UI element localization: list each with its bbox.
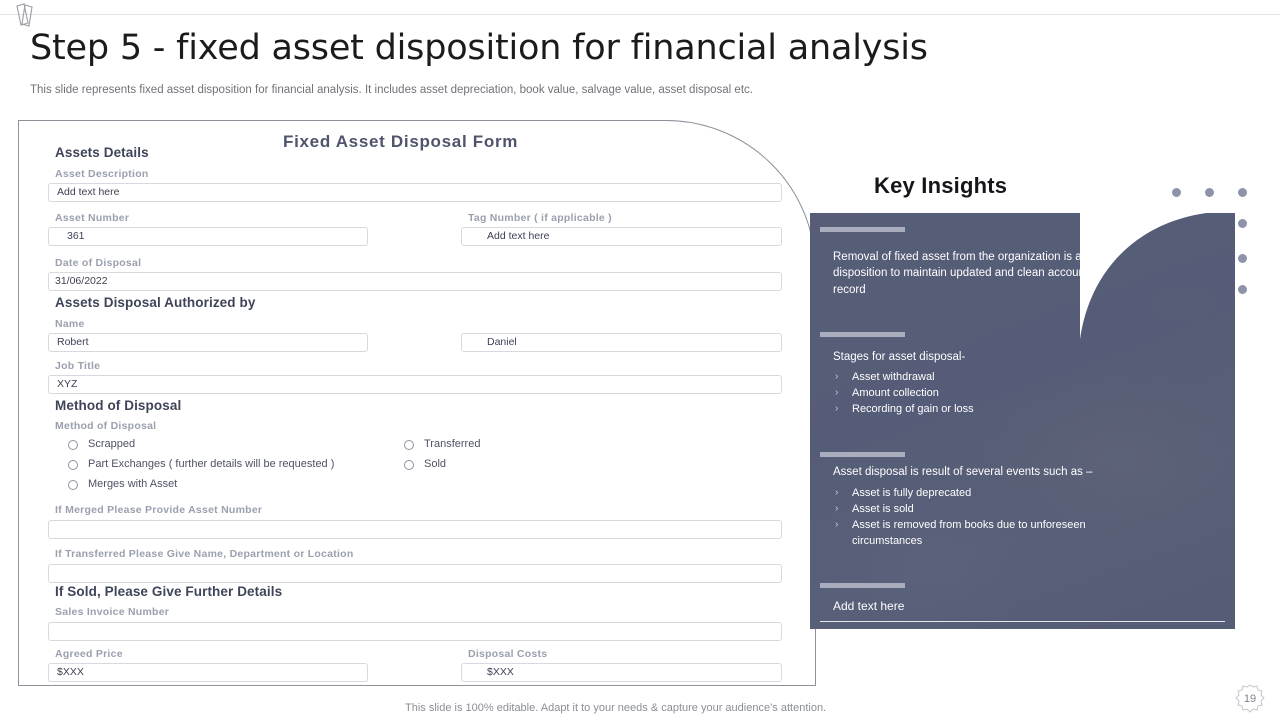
radio-label-part-exchanges[interactable]: Part Exchanges ( further details will be… (88, 458, 334, 470)
input-if-merged[interactable] (48, 520, 782, 539)
page-subtitle: This slide represents fixed asset dispos… (30, 83, 753, 98)
insight-item-3-1: Asset is sold (852, 501, 914, 517)
input-if-transferred[interactable] (48, 564, 782, 583)
insight-item-2-0: Asset withdrawal (852, 369, 935, 385)
chevron-right-icon: › (835, 387, 838, 398)
insight-text-1: Removal of fixed asset from the organiza… (833, 249, 1133, 298)
key-insights-title: Key Insights (874, 173, 1007, 199)
top-divider (0, 14, 1280, 15)
label-asset-number: Asset Number (55, 212, 129, 224)
value-date-of-disposal: 31/06/2022 (55, 272, 108, 291)
footer-note: This slide is 100% editable. Adapt it to… (405, 702, 826, 714)
input-agreed-price[interactable] (48, 663, 368, 682)
radio-scrapped[interactable] (68, 440, 78, 450)
input-asset-description[interactable] (48, 183, 782, 202)
label-asset-description: Asset Description (55, 168, 149, 180)
radio-transferred[interactable] (404, 440, 414, 450)
label-tag-number: Tag Number ( if applicable ) (468, 212, 612, 224)
input-sales-invoice-number[interactable] (48, 622, 782, 641)
label-method-of-disposal: Method of Disposal (55, 420, 156, 432)
form-title: Fixed Asset Disposal Form (283, 132, 518, 152)
radio-part-exchanges[interactable] (68, 460, 78, 470)
input-job-title[interactable] (48, 375, 782, 394)
insight-bottom-rule (820, 621, 1225, 622)
insight-item-2-1: Amount collection (852, 385, 939, 401)
page-title: Step 5 - fixed asset disposition for fin… (30, 26, 928, 70)
radio-label-merges-with-asset[interactable]: Merges with Asset (88, 478, 177, 490)
insight-text-2: Stages for asset disposal- (833, 349, 1133, 365)
value-disposal-costs: $XXX (487, 663, 514, 682)
insight-text-4: Add text here (833, 598, 1133, 614)
value-tag-number: Add text here (487, 227, 549, 246)
insight-item-2-2: Recording of gain or loss (852, 401, 974, 417)
insight-item-3-2: Asset is removed from books due to unfor… (852, 517, 1102, 549)
chevron-right-icon: › (835, 519, 838, 530)
page-number-badge: 19 (1232, 682, 1268, 716)
value-job-title: XYZ (57, 375, 77, 394)
section-if-sold: If Sold, Please Give Further Details (55, 584, 282, 599)
chevron-right-icon: › (835, 371, 838, 382)
label-job-title: Job Title (55, 360, 100, 372)
radio-label-sold[interactable]: Sold (424, 458, 446, 470)
value-name-second: Daniel (487, 333, 517, 352)
section-assets-details: Assets Details (55, 145, 149, 160)
radio-merges-with-asset[interactable] (68, 480, 78, 490)
label-if-merged: If Merged Please Provide Asset Number (55, 504, 262, 516)
section-authorized-by: Assets Disposal Authorized by (55, 295, 255, 310)
insight-divider-2 (820, 332, 905, 337)
insight-divider-1 (820, 227, 905, 232)
radio-label-transferred[interactable]: Transferred (424, 438, 480, 450)
insight-divider-3 (820, 452, 905, 457)
radio-sold[interactable] (404, 460, 414, 470)
label-date-of-disposal: Date of Disposal (55, 257, 141, 269)
page-number: 19 (1232, 682, 1268, 716)
section-method-of-disposal: Method of Disposal (55, 398, 181, 413)
label-name: Name (55, 318, 85, 330)
chevron-right-icon: › (835, 403, 838, 414)
insight-item-3-0: Asset is fully deprecated (852, 485, 971, 501)
input-date-of-disposal[interactable] (48, 272, 782, 291)
value-asset-number: 361 (67, 227, 85, 246)
label-disposal-costs: Disposal Costs (468, 648, 547, 660)
radio-label-scrapped[interactable]: Scrapped (88, 438, 135, 450)
chevron-right-icon: › (835, 487, 838, 498)
label-sales-invoice-number: Sales Invoice Number (55, 606, 169, 618)
label-agreed-price: Agreed Price (55, 648, 123, 660)
chevron-right-icon: › (835, 503, 838, 514)
insight-divider-4 (820, 583, 905, 588)
insight-text-3: Asset disposal is result of several even… (833, 464, 1178, 480)
value-name: Robert (57, 333, 89, 352)
label-if-transferred: If Transferred Please Give Name, Departm… (55, 548, 354, 560)
input-name[interactable] (48, 333, 368, 352)
input-asset-number[interactable] (48, 227, 368, 246)
value-agreed-price: $XXX (57, 663, 84, 682)
value-asset-description: Add text here (57, 183, 119, 202)
